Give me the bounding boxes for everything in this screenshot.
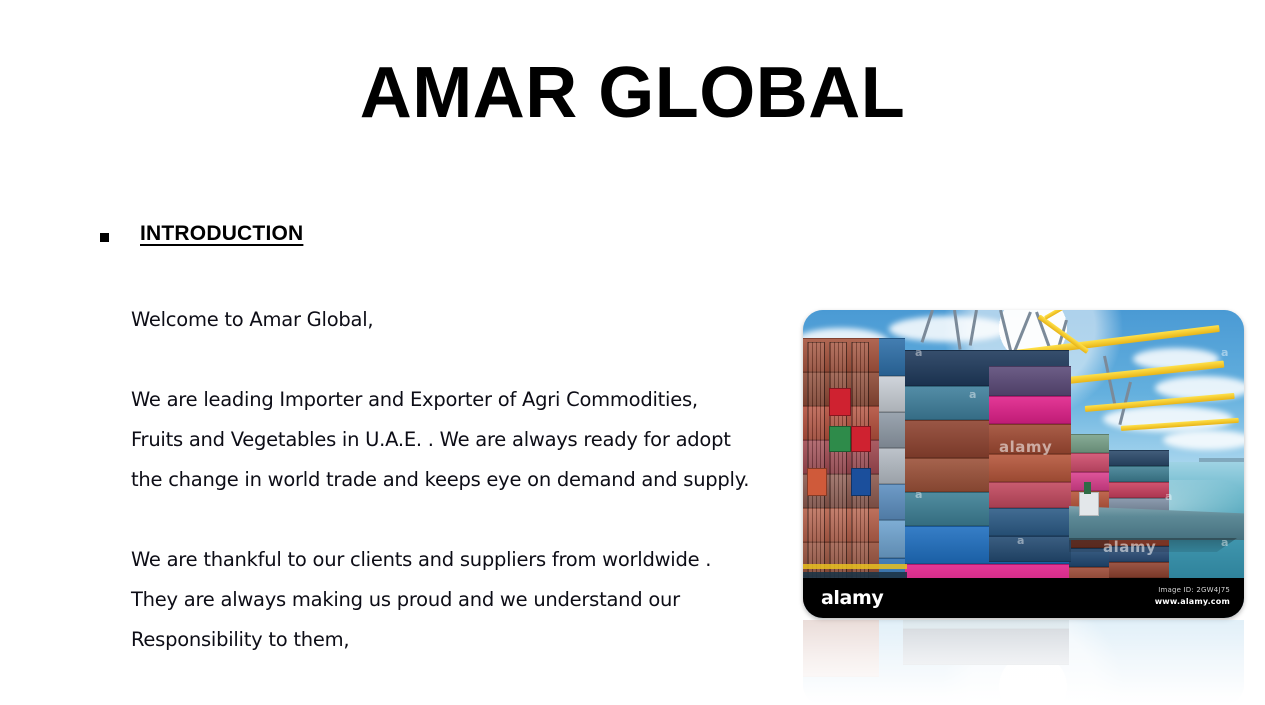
cloud [889, 316, 1009, 342]
container [879, 412, 905, 448]
reflection-stack [903, 620, 1069, 665]
container [903, 620, 1069, 629]
watermark-a: a [969, 388, 976, 401]
container [803, 620, 879, 677]
paragraph-welcome: Welcome to Amar Global, [131, 300, 811, 340]
container [989, 396, 1071, 424]
paragraph-spacer [131, 340, 811, 380]
hull-shadow [1069, 538, 1237, 552]
body-line: We are leading Importer and Exporter of … [131, 380, 811, 420]
page-title: AMAR GLOBAL [0, 50, 1265, 136]
container [989, 536, 1071, 562]
container [903, 629, 1069, 665]
container [1103, 466, 1169, 482]
body-line: the change in world trade and keeps eye … [131, 460, 811, 500]
watermark-a: a [1221, 346, 1228, 359]
container [879, 338, 905, 376]
container [879, 484, 905, 520]
photo-scene: alamy alamy a a a a a a a [803, 310, 1244, 618]
paragraph-about: We are leading Importer and Exporter of … [131, 380, 811, 500]
container [851, 426, 871, 452]
container [989, 508, 1071, 536]
body-line: We are thankful to our clients and suppl… [131, 540, 811, 580]
ship-funnel [1084, 482, 1091, 494]
container [1103, 562, 1169, 578]
watermark-a: a [1017, 534, 1024, 547]
container-stack-inner [989, 366, 1071, 562]
watermark-a: a [1221, 536, 1228, 549]
paragraph-spacer [131, 500, 811, 540]
alamy-meta: Image ID: 2GW4J75 www.alamy.com [1155, 585, 1230, 607]
section-heading-introduction: INTRODUCTION [140, 220, 303, 248]
container [989, 424, 1071, 454]
reflection-sky [803, 620, 1244, 705]
body-line: Responsibility to them, [131, 620, 811, 660]
photo-frame: alamy alamy a a a a a a a alamy Image ID… [803, 310, 1244, 618]
introduction-heading-row: INTRODUCTION [100, 220, 303, 248]
container [1103, 450, 1169, 466]
ship-superstructure [1079, 492, 1099, 516]
container-ship-photo: alamy alamy a a a a a a a alamy Image ID… [803, 310, 1244, 618]
cloud [1163, 430, 1244, 450]
body-line: They are always making us proud and we u… [131, 580, 811, 620]
alamy-logo: alamy [821, 587, 883, 609]
container [989, 366, 1071, 396]
reflection-image: alamy Image ID: 2GW4J75 www.alamy.com [803, 620, 1244, 705]
container [989, 454, 1071, 482]
slide-canvas: AMAR GLOBAL INTRODUCTION Welcome to Amar… [0, 0, 1265, 705]
container-door-detail [829, 342, 847, 600]
photo-reflection: alamy Image ID: 2GW4J75 www.alamy.com [803, 620, 1244, 705]
reflection-stack [803, 620, 879, 677]
body-line: Welcome to Amar Global, [131, 300, 811, 340]
body-text-block: Welcome to Amar Global, We are leading I… [131, 300, 811, 660]
container [829, 388, 851, 416]
container [807, 468, 827, 496]
square-bullet-icon [100, 233, 109, 242]
horizon-land [1199, 458, 1244, 462]
deck-rail [803, 564, 907, 569]
watermark-a: a [915, 346, 922, 359]
alamy-website-label: www.alamy.com [1155, 596, 1230, 607]
image-id-label: Image ID: 2GW4J75 [1155, 585, 1230, 596]
alamy-watermark-bar: alamy Image ID: 2GW4J75 www.alamy.com [803, 578, 1244, 618]
body-line: Fruits and Vegetables in U.A.E. . We are… [131, 420, 811, 460]
paragraph-thanks: We are thankful to our clients and suppl… [131, 540, 811, 660]
reflection-fade-overlay [803, 620, 1244, 705]
watermark-a: a [1165, 490, 1172, 503]
container [879, 520, 905, 558]
container [879, 376, 905, 412]
container [829, 426, 851, 452]
container [1103, 482, 1169, 498]
container [879, 448, 905, 484]
watermark-a: a [915, 488, 922, 501]
container [989, 482, 1071, 508]
container [851, 468, 871, 496]
